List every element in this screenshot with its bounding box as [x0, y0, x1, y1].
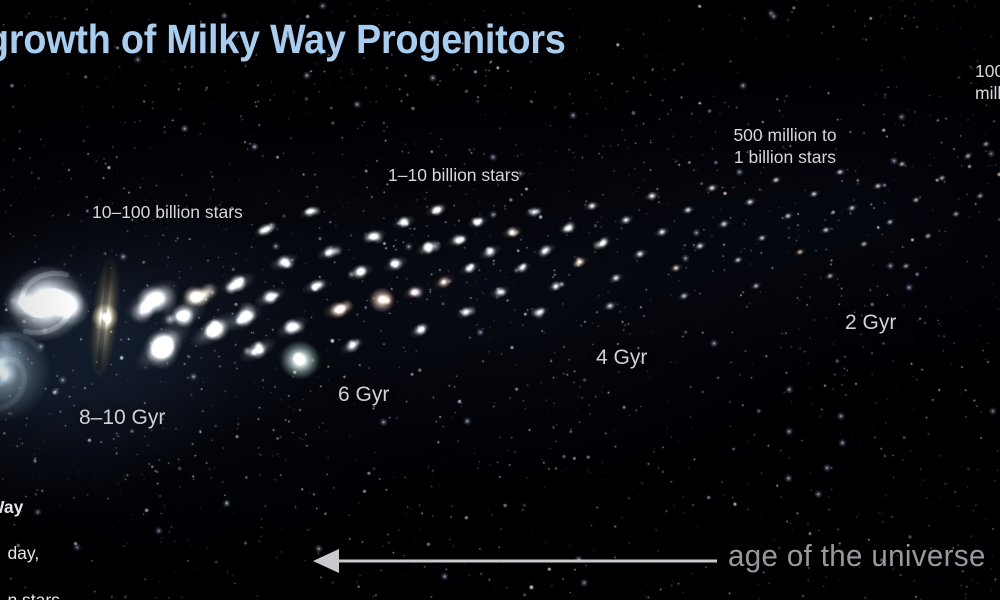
- stars-10-100-billion-label: 10–100 billion stars: [92, 201, 243, 223]
- galaxy-field: [0, 0, 1000, 600]
- stars-500m-1b-label: 500 million to 1 billion stars: [665, 124, 905, 169]
- page-title: growth of Milky Way Progenitors: [0, 16, 566, 63]
- epoch-2-gyr-label: 2 Gyr: [845, 311, 896, 335]
- stars-1-10-billion-label: 1–10 billion stars: [388, 164, 519, 186]
- age-of-universe-caption: age of the universe: [728, 538, 986, 574]
- milky-way-today: day,: [7, 543, 39, 563]
- epoch-6-gyr-label: 6 Gyr: [338, 383, 389, 407]
- epoch-8-10-gyr-label: 8–10 Gyr: [79, 406, 165, 430]
- infographic-canvas: growth of Milky Way Progenitors 10–100 b…: [0, 0, 1000, 600]
- milky-way-star-count: n stars: [7, 590, 60, 600]
- milky-way-name: Way: [0, 496, 60, 519]
- milky-way-callout: Way day, n stars: [0, 450, 60, 600]
- stars-100-million-label: 100 million: [975, 60, 1000, 105]
- epoch-4-gyr-label: 4 Gyr: [596, 346, 647, 370]
- age-of-universe-arrow: [305, 546, 720, 576]
